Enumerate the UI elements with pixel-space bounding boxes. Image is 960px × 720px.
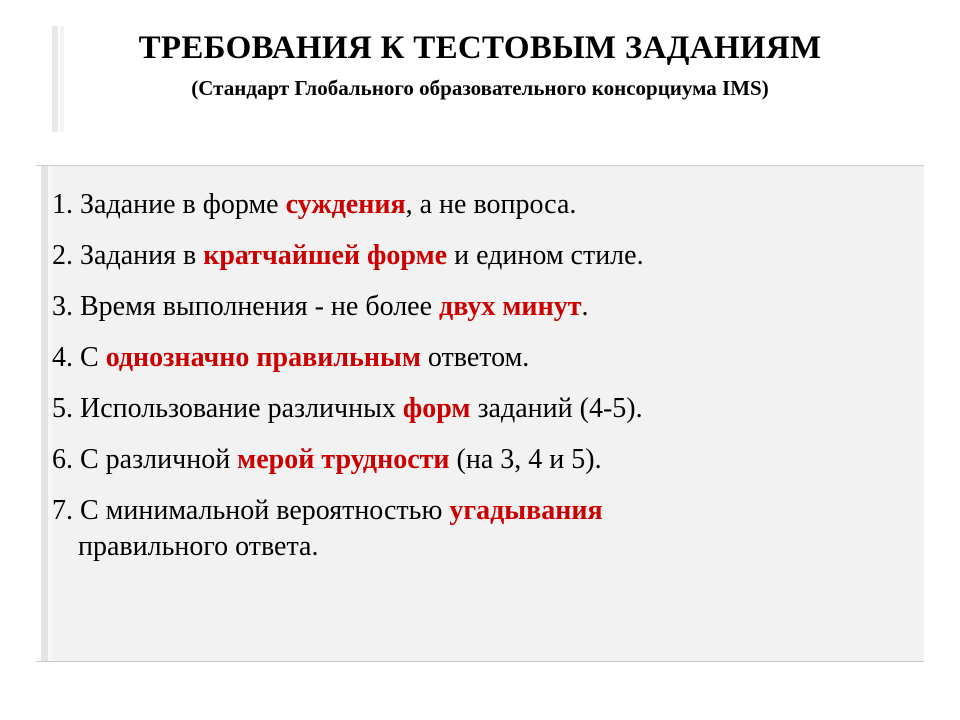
content-panel: 1.Задание в форме суждения, а не вопроса… [36, 165, 924, 662]
list-item-text: Использование различных форм заданий (4-… [80, 393, 643, 424]
plain-text: . [581, 291, 588, 322]
plain-text: ответом. [421, 342, 529, 373]
plain-text: С минимальной вероятностью [80, 495, 449, 526]
panel-edge-strip-2 [41, 166, 48, 661]
slide: ТРЕБОВАНИЯ К ТЕСТОВЫМ ЗАДАНИЯМ (Стандарт… [0, 0, 960, 720]
plain-text: (на 3, 4 и 5). [450, 444, 602, 475]
list-item-number: 3. [52, 290, 80, 324]
plain-text: Задания в [80, 240, 203, 271]
plain-text: , а не вопроса. [406, 189, 577, 220]
list-item-number: 7. [52, 494, 80, 528]
highlighted-term: форм [403, 393, 471, 424]
highlighted-term: угадывания [449, 495, 602, 526]
list-item-text: Задание в форме суждения, а не вопроса. [80, 189, 576, 220]
plain-text: Использование различных [80, 393, 403, 424]
list-item: 3.Время выполнения - не более двух минут… [52, 290, 912, 324]
list-item-continuation: правильного ответа. [78, 530, 912, 564]
highlighted-term: кратчайшей форме [203, 240, 447, 271]
plain-text: С различной [80, 444, 237, 475]
requirements-list: 1.Задание в форме суждения, а не вопроса… [52, 188, 912, 581]
plain-text: Время выполнения - не более [80, 291, 439, 322]
list-item-text: С различной мерой трудности (на 3, 4 и 5… [80, 444, 602, 475]
plain-text: и едином стиле. [447, 240, 644, 271]
plain-text: Задание в форме [80, 189, 286, 220]
list-item-number: 5. [52, 392, 80, 426]
highlighted-term: мерой трудности [237, 444, 449, 475]
list-item-text: С однозначно правильным ответом. [80, 342, 529, 373]
list-item: 4.С однозначно правильным ответом. [52, 341, 912, 375]
list-item: 1.Задание в форме суждения, а не вопроса… [52, 188, 912, 222]
slide-subtitle: (Стандарт Глобального образовательного к… [0, 74, 960, 102]
highlighted-term: однозначно правильным [106, 342, 421, 373]
list-item-number: 6. [52, 443, 80, 477]
slide-title: ТРЕБОВАНИЯ К ТЕСТОВЫМ ЗАДАНИЯМ [0, 28, 960, 68]
list-item-number: 1. [52, 188, 80, 222]
highlighted-term: суждения [286, 189, 406, 220]
list-item-number: 4. [52, 341, 80, 375]
list-item: 7.С минимальной вероятностью угадыванияп… [52, 494, 912, 564]
list-item: 6.С различной мерой трудности (на 3, 4 и… [52, 443, 912, 477]
list-item-text: С минимальной вероятностью угадыванияпра… [52, 495, 912, 564]
list-item-text: Задания в кратчайшей форме и едином стил… [80, 240, 644, 271]
highlighted-term: двух минут [439, 291, 581, 322]
list-item-text: Время выполнения - не более двух минут. [80, 291, 588, 322]
title-block: ТРЕБОВАНИЯ К ТЕСТОВЫМ ЗАДАНИЯМ (Стандарт… [0, 28, 960, 102]
list-item: 5.Использование различных форм заданий (… [52, 392, 912, 426]
plain-text: заданий (4-5). [471, 393, 643, 424]
list-item: 2.Задания в кратчайшей форме и едином ст… [52, 239, 912, 273]
list-item-number: 2. [52, 239, 80, 273]
plain-text: С [80, 342, 106, 373]
